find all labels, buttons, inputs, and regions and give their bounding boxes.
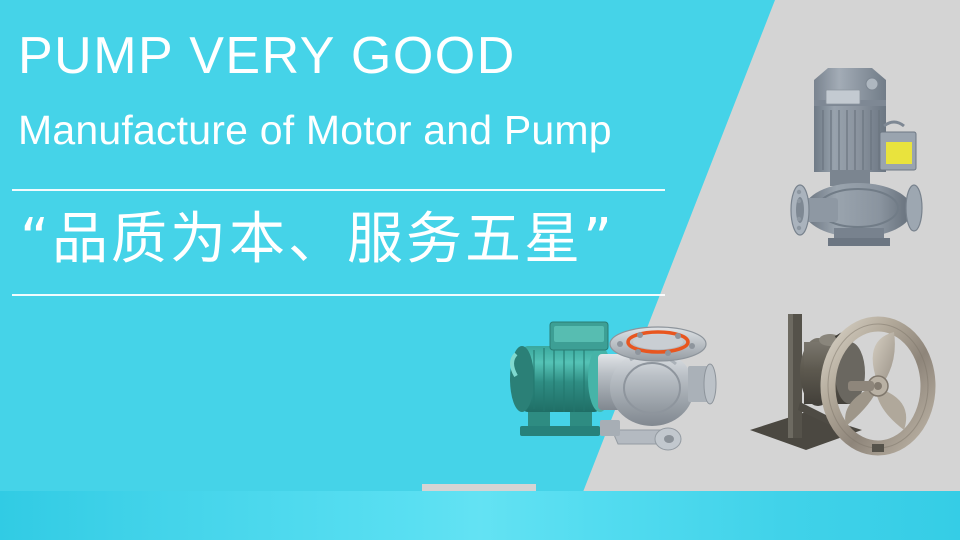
product-image-vertical-inline-pipeline-pump	[768, 42, 940, 254]
promo-banner: PUMP VERY GOOD Manufacture of Motor and …	[0, 0, 960, 540]
divider-bottom	[12, 294, 665, 296]
accent-tab	[422, 484, 536, 491]
product-image-submersible-mixer	[744, 294, 940, 476]
divider-top	[12, 189, 665, 191]
headline-subtitle: Manufacture of Motor and Pump	[18, 106, 612, 154]
product-image-horizontal-centrifugal-pump	[492, 302, 720, 474]
headline-title: PUMP VERY GOOD	[18, 26, 516, 86]
bottom-accent-bar	[0, 491, 960, 540]
slogan-text: “品质为本、服务五星”	[20, 202, 615, 278]
